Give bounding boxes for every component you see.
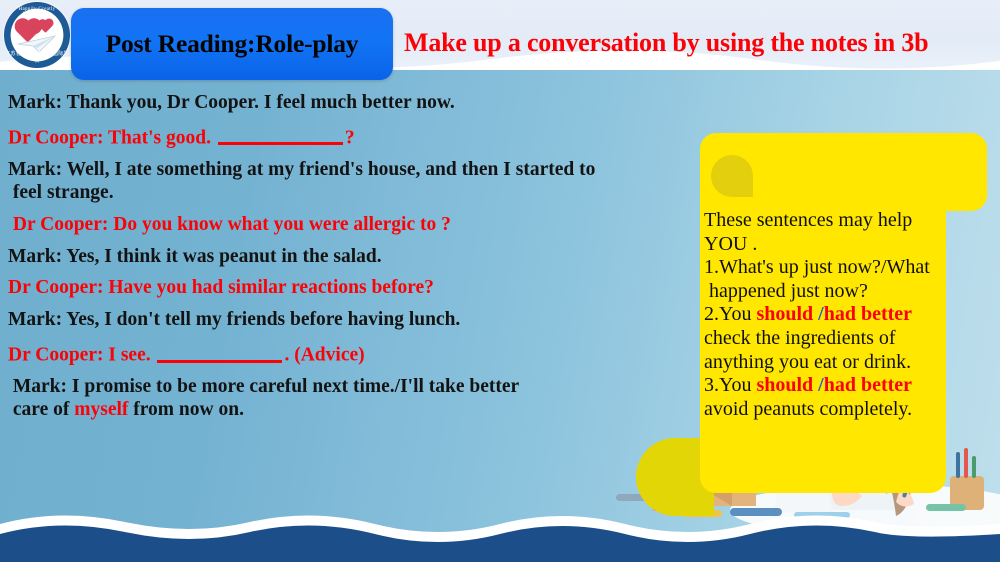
slide-canvas: Happily Greatly Successfully 江苏省张家港市联合国际… bbox=[0, 0, 1000, 562]
note-item-3-before: 3.You bbox=[704, 374, 756, 396]
section-title-pill: Post Reading:Role-play bbox=[71, 8, 393, 80]
task-instruction-headline: Make up a conversation by using the note… bbox=[404, 28, 928, 58]
dialogue-line-drcooper-1-post: ? bbox=[345, 127, 355, 148]
dialogue-line-mark-2: Mark: Well, I ate something at my friend… bbox=[8, 159, 698, 205]
dialogue-line-drcooper-1: Dr Cooper: That's good. ? bbox=[8, 124, 698, 150]
note-item-2: 2.You should /had better check the ingre… bbox=[704, 303, 948, 374]
note-item-1: 1.What's up just now?/What happened just… bbox=[704, 256, 948, 303]
dialogue-line-drcooper-3: Dr Cooper: Have you had similar reaction… bbox=[8, 277, 698, 300]
dialogue-line-mark-4: Mark: Yes, I don't tell my friends befor… bbox=[8, 309, 698, 332]
dialogue-line-drcooper-4-pre: Dr Cooper: I see. bbox=[8, 345, 155, 366]
dialogue-line-drcooper-4: Dr Cooper: I see. . (Advice) bbox=[8, 341, 698, 367]
note-intro-text: These sentences may help YOU . bbox=[704, 209, 948, 256]
logo-ring-text-top: Happily Greatly Successfully bbox=[4, 7, 70, 17]
dialogue-line-drcooper-1-pre: Dr Cooper: That's good. bbox=[8, 127, 216, 148]
dialogue-line-mark-1: Mark: Thank you, Dr Cooper. I feel much … bbox=[8, 92, 698, 115]
fill-in-blank-1[interactable] bbox=[218, 124, 343, 146]
dialogue-line-drcooper-4-post: . (Advice) bbox=[284, 345, 364, 366]
note-item-3-modal-2: had better bbox=[824, 374, 912, 396]
note-item-2-before: 2.You bbox=[704, 303, 756, 325]
dialogue-line-mark-5-part2: from now on. bbox=[128, 399, 244, 420]
note-item-3-slash: / bbox=[813, 374, 824, 396]
note-corner-dot-decoration bbox=[711, 155, 753, 197]
note-text-content: These sentences may help YOU . 1.What's … bbox=[700, 209, 950, 421]
note-item-3-modal-1: should bbox=[756, 374, 813, 396]
logo-ring-text-bottom: 江苏省张家港市联合国际学校 bbox=[4, 50, 70, 64]
school-crest-logo: Happily Greatly Successfully 江苏省张家港市联合国际… bbox=[4, 2, 70, 68]
dialogue-line-mark-5: Mark: I promise to be more careful next … bbox=[8, 376, 698, 422]
helper-note-callout: These sentences may help YOU . 1.What's … bbox=[700, 133, 990, 493]
heart-icon-small bbox=[39, 20, 52, 33]
dialogue-line-mark-3: Mark: Yes, I think it was peanut in the … bbox=[8, 246, 698, 269]
note-item-3: 3.You should /had better avoid peanuts c… bbox=[704, 374, 948, 421]
dialogue-highlight-myself: myself bbox=[74, 399, 128, 420]
note-item-2-slash: / bbox=[813, 303, 824, 325]
dialogue-line-drcooper-2: Dr Cooper: Do you know what you were all… bbox=[8, 214, 698, 237]
section-title-text: Post Reading:Role-play bbox=[106, 29, 359, 59]
bottom-wave-decoration bbox=[0, 502, 1000, 562]
dialogue-script: Mark: Thank you, Dr Cooper. I feel much … bbox=[8, 92, 698, 431]
note-item-2-modal-1: should bbox=[756, 303, 813, 325]
fill-in-blank-2[interactable] bbox=[157, 341, 282, 363]
note-item-2-modal-2: had better bbox=[824, 303, 912, 325]
